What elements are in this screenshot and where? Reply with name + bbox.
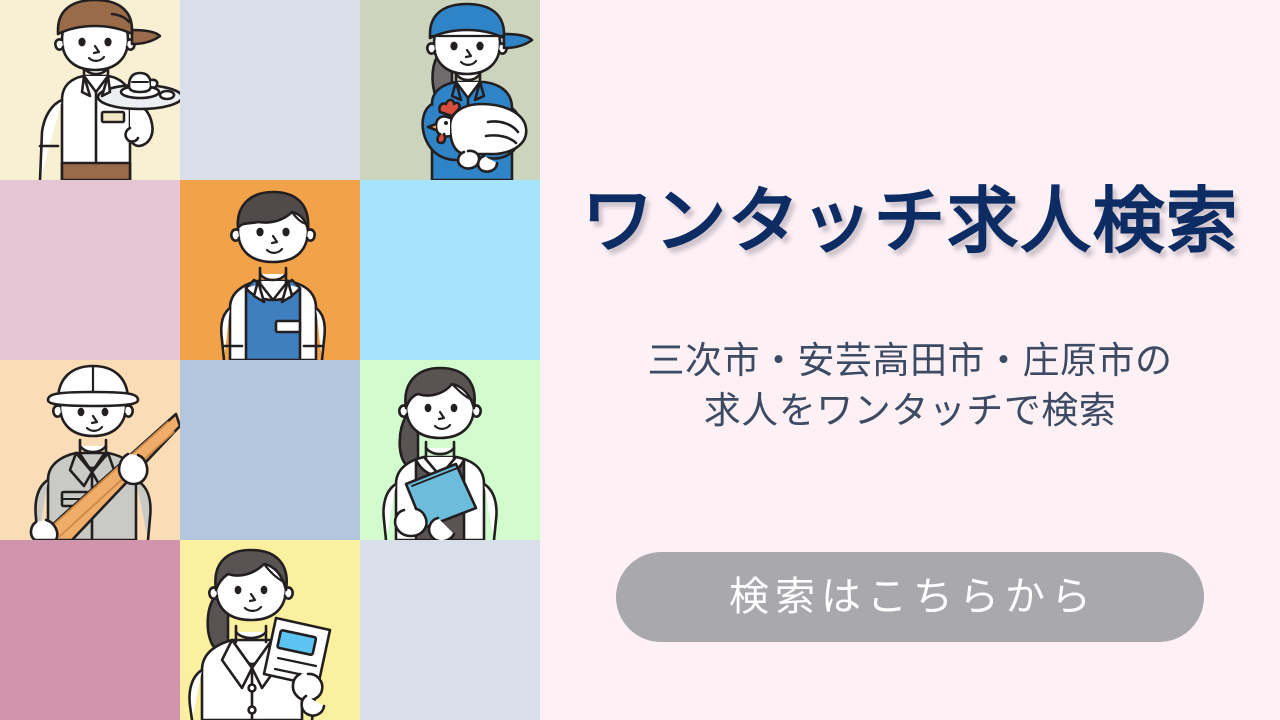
mosaic-cell-empty-6 — [360, 540, 540, 720]
mosaic-cell-empty-5 — [0, 540, 180, 720]
pharmacist-illustration — [180, 540, 360, 720]
office-worker-illustration — [360, 360, 540, 540]
mosaic-cell-construction-worker — [0, 360, 180, 540]
page-subtitle: 三次市・安芸高田市・庄原市の 求人をワンタッチで検索 — [540, 336, 1280, 436]
mosaic-cell-office-worker — [360, 360, 540, 540]
mosaic-cell-cafe-waiter — [0, 0, 180, 180]
cafe-waiter-illustration — [0, 0, 180, 180]
subtitle-line-1: 三次市・安芸高田市・庄原市の — [540, 336, 1280, 386]
construction-worker-illustration — [0, 360, 180, 540]
mosaic-cell-empty-1 — [180, 0, 360, 180]
mosaic-cell-empty-4 — [180, 360, 360, 540]
page-title: ワンタッチ求人検索 — [540, 178, 1280, 264]
cta-container: 検索はこちらから — [540, 552, 1280, 642]
search-cta-button[interactable]: 検索はこちらから — [616, 552, 1204, 642]
job-search-banner: ワンタッチ求人検索 三次市・安芸高田市・庄原市の 求人をワンタッチで検索 検索は… — [0, 0, 1280, 720]
mosaic-cell-pharmacist — [180, 540, 360, 720]
poultry-farmer-illustration — [360, 0, 540, 180]
mosaic-cell-empty-3 — [360, 180, 540, 360]
hero-content: ワンタッチ求人検索 三次市・安芸高田市・庄原市の 求人をワンタッチで検索 検索は… — [540, 0, 1280, 720]
shop-staff-illustration — [180, 180, 360, 360]
illustration-mosaic — [0, 0, 540, 720]
mosaic-cell-shop-staff — [180, 180, 360, 360]
mosaic-cell-poultry-farmer — [360, 0, 540, 180]
mosaic-cell-empty-2 — [0, 180, 180, 360]
subtitle-line-2: 求人をワンタッチで検索 — [540, 386, 1280, 436]
